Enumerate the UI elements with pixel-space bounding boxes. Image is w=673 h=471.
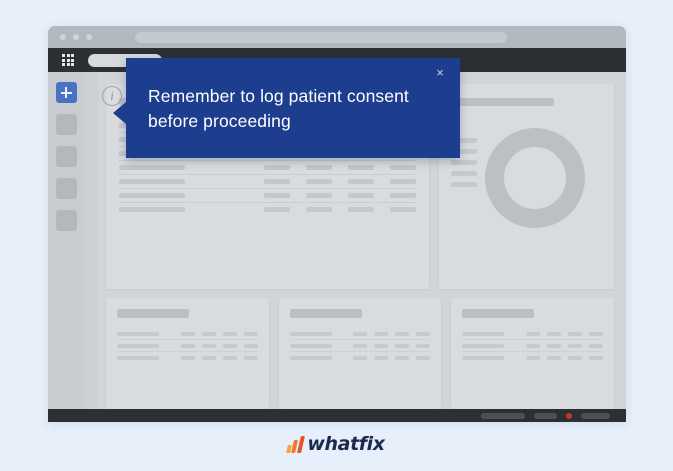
chart-title-placeholder [451,98,554,106]
list-cell [374,332,388,336]
list-cell [374,344,388,348]
list-item-cells [353,332,430,336]
list-item-label [290,344,332,348]
list-cell [223,332,237,336]
sidebar-item-1[interactable] [56,114,77,135]
table-row[interactable] [119,203,416,216]
close-icon[interactable]: × [432,65,448,81]
list-cell [547,344,561,348]
list-cell [568,356,582,360]
table-row-label [119,165,185,170]
tooltip-message: Remember to log patient consent before p… [126,58,460,134]
list-cell [244,356,258,360]
list-item[interactable] [117,340,258,352]
list-item[interactable] [462,340,603,352]
minimize-window-dot[interactable] [73,34,79,40]
card-title-placeholder [462,309,534,318]
plus-icon[interactable] [56,82,77,103]
list-cell [416,332,430,336]
list-item[interactable] [117,352,258,363]
close-window-dot[interactable] [60,34,66,40]
list-item-label [117,332,159,336]
list-cell [244,344,258,348]
list-cell [526,344,540,348]
table-row-cells [264,165,416,170]
list-cell [547,332,561,336]
list-item[interactable] [462,352,603,363]
list-cell [395,356,409,360]
list-item-cells [526,344,603,348]
list-cell [353,332,367,336]
window-controls[interactable] [60,34,92,40]
list-cell [223,344,237,348]
table-cell [390,179,416,184]
table-cell [348,207,374,212]
table-cell [264,179,290,184]
table-cell [390,165,416,170]
card-title-placeholder [117,309,189,318]
browser-titlebar [48,26,626,48]
list-cell [374,356,388,360]
list-cell [589,356,603,360]
list-item-cells [181,332,258,336]
list-item-label [462,344,504,348]
list-cell [202,332,216,336]
footer-brand: whatfix [0,433,673,455]
list-cell [416,356,430,360]
address-bar[interactable] [135,32,507,43]
list-cell [589,344,603,348]
list-item-cells [181,356,258,360]
table-cell [264,165,290,170]
list-cell [181,344,195,348]
list-cell [202,344,216,348]
whatfix-logo-icon [286,436,305,453]
card-title-placeholder [290,309,362,318]
table-row[interactable] [119,161,416,175]
table-cell [264,207,290,212]
secondary-nav-strip [84,72,98,409]
list-item[interactable] [290,328,431,340]
table-cell [306,207,332,212]
list-item-label [290,356,332,360]
legend-item [451,182,477,187]
list-item[interactable] [462,328,603,340]
table-row-cells [264,207,416,212]
table-cell [390,193,416,198]
list-item-label [462,356,504,360]
sidebar-item-3[interactable] [56,178,77,199]
table-row-label [119,207,185,212]
table-row-label [119,179,185,184]
list-item[interactable] [290,340,431,352]
status-pill-mid[interactable] [534,413,557,419]
list-item-label [117,344,159,348]
list-cell [181,356,195,360]
table-row[interactable] [119,175,416,189]
list-item-cells [353,356,430,360]
list-cell [568,332,582,336]
table-row-label [119,193,185,198]
list-cell [202,356,216,360]
table-row-cells [264,193,416,198]
maximize-window-dot[interactable] [86,34,92,40]
sidebar-item-4[interactable] [56,210,77,231]
list-cell [244,332,258,336]
list-cell [526,332,540,336]
chart-body [451,126,602,228]
table-cell [348,165,374,170]
bottom-card-row [106,298,614,409]
table-row[interactable] [119,189,416,203]
apps-grid-icon[interactable] [62,54,74,66]
sidebar-rail [48,72,84,409]
legend-item [451,160,477,165]
list-cell [181,332,195,336]
donut-chart-card [439,84,614,289]
list-item-cells [353,344,430,348]
list-item[interactable] [117,328,258,340]
list-item-cells [526,332,603,336]
table-cell [264,193,290,198]
table-cell [348,193,374,198]
app-statusbar [48,409,626,422]
list-cell [353,344,367,348]
status-alert-dot[interactable] [566,413,572,419]
table-cell [306,165,332,170]
summary-card-1 [106,298,269,409]
summary-card-3 [451,298,614,409]
table-cell [306,193,332,198]
list-cell [353,356,367,360]
summary-card-2 [279,298,442,409]
list-item-label [462,332,504,336]
list-cell [416,344,430,348]
list-cell [547,356,561,360]
list-item-cells [181,344,258,348]
list-cell [395,332,409,336]
sidebar-item-2[interactable] [56,146,77,167]
list-cell [395,344,409,348]
tooltip-arrow [113,102,126,124]
table-cell [348,179,374,184]
list-item-cells [526,356,603,360]
status-pill-short[interactable] [581,413,610,419]
list-cell [568,344,582,348]
legend-item [451,171,477,176]
list-item[interactable] [290,352,431,363]
status-pill-long[interactable] [481,413,525,419]
table-cell [306,179,332,184]
tooltip-callout: Remember to log patient consent before p… [126,58,460,158]
list-cell [589,332,603,336]
table-row-cells [264,179,416,184]
donut-chart [485,128,585,228]
list-item-label [290,332,332,336]
list-cell [223,356,237,360]
brand-name: whatfix [307,433,384,455]
list-item-label [117,356,159,360]
list-cell [526,356,540,360]
table-cell [390,207,416,212]
